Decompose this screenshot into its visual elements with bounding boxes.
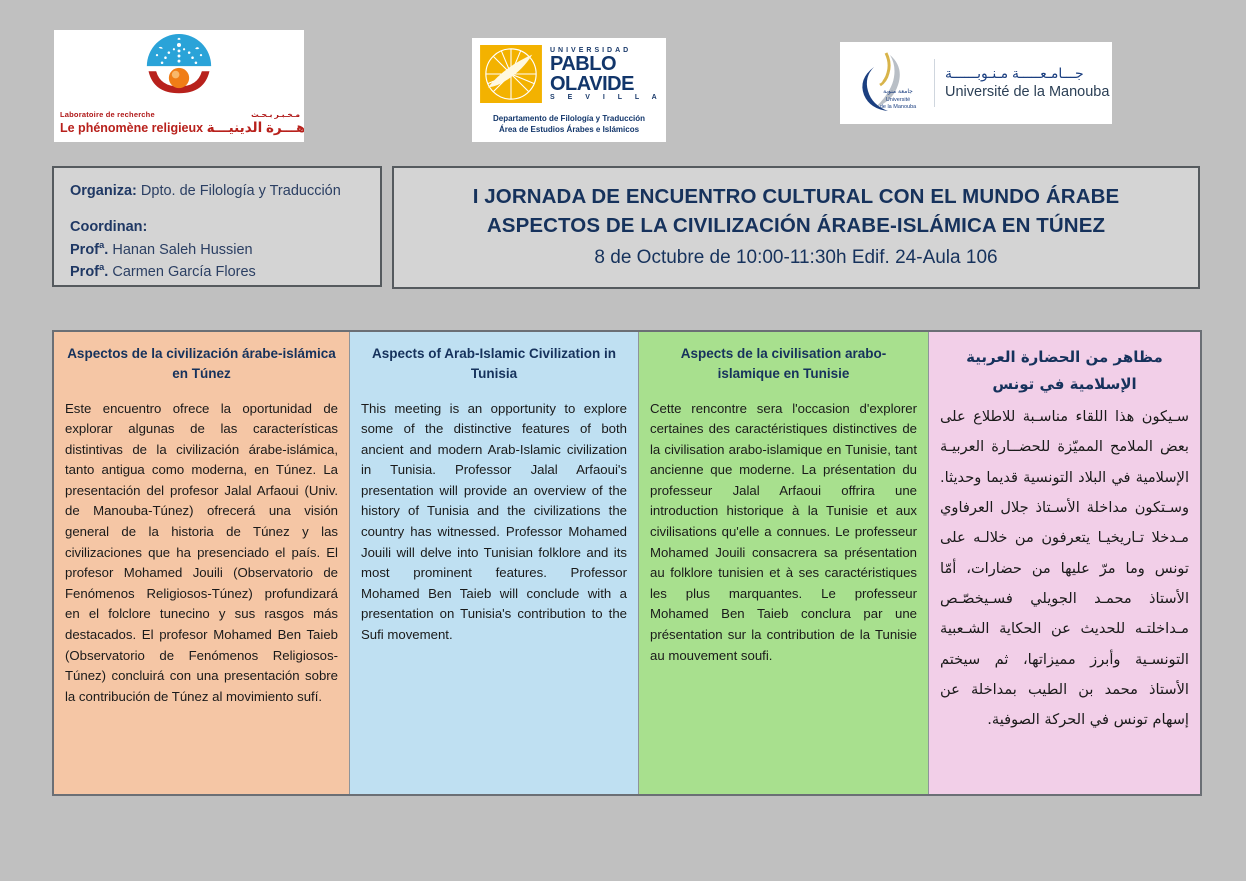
coordinan-label: Coordinan: [70,219,147,235]
column-french-title: Aspects de la civilisation arabo-islamiq… [650,344,917,385]
svg-text:de la Manouba: de la Manouba [880,104,917,110]
prof-abbr-2: Prof [70,264,99,280]
laboratoire-de-recherche-logo: Laboratoire de recherche مـخـبـر بـحـث L… [54,30,304,142]
coordinator-2-line: Profa. Carmen García Flores [70,261,370,283]
logo-strip: Laboratoire de recherche مـخـبـر بـحـث L… [0,30,1246,142]
coordinan-line: Coordinan: [70,216,370,238]
organiza-spacer [70,202,370,216]
upo-dept-line2: Área de Estudios Árabes e Islámicos [472,125,666,136]
manouba-emblem-icon: جامعة منوبة Université de la Manouba [852,49,924,117]
column-arabic-title: مظاهر من الحضارة العربية الإسلامية في تو… [940,344,1189,398]
column-english: Aspects of Arab-Islamic Civilization in … [350,332,639,794]
column-arabic: مظاهر من الحضارة العربية الإسلامية في تو… [929,332,1200,794]
prof-dot-1: . [104,242,108,258]
column-french-body: Cette rencontre sera l'occasion d'explor… [650,399,917,667]
coordinator-1-name: Hanan Saleh Hussien [112,242,252,258]
coordinator-2-name: Carmen García Flores [112,264,255,280]
column-spanish-body: Este encuentro ofrece la oportunidad de … [65,399,338,708]
manouba-french-name: Université de la Manouba [945,83,1109,101]
organiza-value: Dpto. de Filología y Traducción [141,183,341,199]
coordinator-1-line: Profa. Hanan Saleh Hussien [70,239,370,261]
manouba-arabic-name: جـــامـعـــــة مـنـوبــــــة [945,65,1109,83]
multilingual-description-table: Aspectos de la civilización árabe-islámi… [52,330,1202,796]
lab-line2-ar: الظاهـــرة الدينيـــة [207,120,304,135]
upo-pablo-label: PABLO [550,54,662,74]
column-arabic-body: سـيكون هذا اللقاء مناسـبة للاطلاع على بع… [940,402,1189,736]
event-title-line1: I JORNADA DE ENCUENTRO CULTURAL CON EL M… [473,182,1120,212]
header-row: Organiza: Dpto. de Filología y Traducció… [0,166,1246,291]
organiza-line: Organiza: Dpto. de Filología y Traducció… [70,180,370,202]
organiza-label: Organiza: [70,183,137,199]
religious-phenomenon-emblem-icon [136,34,222,100]
organiza-panel: Organiza: Dpto. de Filología y Traducció… [52,166,382,287]
event-datetime-venue: 8 de Octubre de 10:00-11:30h Edif. 24-Au… [594,243,997,273]
prof-abbr-1: Prof [70,242,99,258]
prof-dot-2: . [104,264,108,280]
manouba-divider [934,59,935,107]
universite-de-la-manouba-logo: جامعة منوبة Université de la Manouba جــ… [840,42,1112,124]
upo-sunburst-icon [480,45,542,103]
svg-text:Université: Université [886,97,910,103]
lab-line2-fr: Le phénomène religieux [60,121,203,135]
upo-olavide-label: OLAVIDE [550,74,662,94]
lab-line1-ar: مـخـبـر بـحـث [251,110,304,119]
upo-dept-line1: Departamento de Filología y Traducción [472,114,666,125]
column-spanish-title: Aspectos de la civilización árabe-islámi… [65,344,338,385]
upo-sevilla-label: S E V I L L A [550,94,662,101]
column-english-body: This meeting is an opportunity to explor… [361,399,627,646]
lab-line1-fr: Laboratoire de recherche [60,110,155,119]
event-title-panel: I JORNADA DE ENCUENTRO CULTURAL CON EL M… [392,166,1200,289]
column-french: Aspects de la civilisation arabo-islamiq… [639,332,929,794]
svg-text:جامعة منوبة: جامعة منوبة [883,88,913,95]
event-title-line2: ASPECTOS DE LA CIVILIZACIÓN ÁRABE-ISLÁMI… [487,211,1105,241]
universidad-pablo-de-olavide-logo: UNIVERSIDAD PABLO OLAVIDE S E V I L L A … [472,38,666,142]
column-english-title: Aspects of Arab-Islamic Civilization in … [361,344,627,385]
column-spanish: Aspectos de la civilización árabe-islámi… [54,332,350,794]
